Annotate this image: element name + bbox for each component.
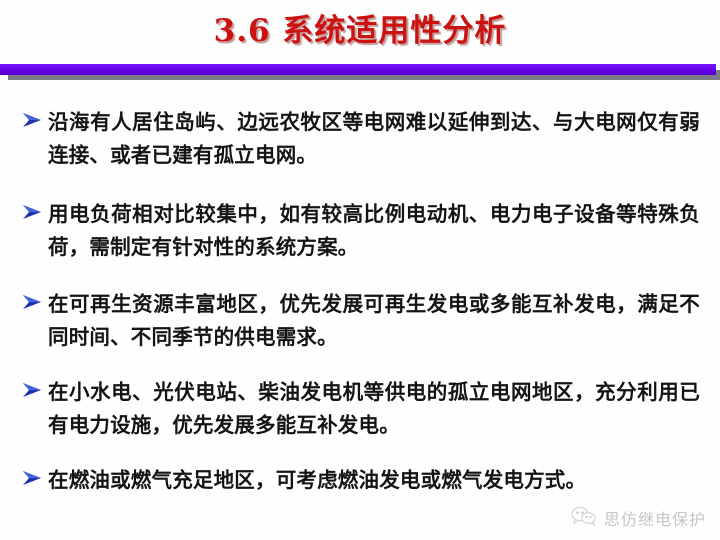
slide-body: 沿海有人居住岛屿、边远农牧区等电网难以延伸到达、与大电网仅有弱连接、或者已建有孤…: [0, 96, 720, 526]
arrow-bullet-icon: [22, 198, 48, 220]
presentation-slide: 3.6 系统适用性分析 沿海有人居住岛屿、边远农牧区等电网难以延伸到达、与大电网…: [0, 0, 720, 540]
page-title: 3.6 系统适用性分析: [214, 16, 507, 47]
bullet-item: 沿海有人居住岛屿、边远农牧区等电网难以延伸到达、与大电网仅有弱连接、或者已建有孤…: [22, 106, 700, 172]
bullet-item: 在小水电、光伏电站、柴油发电机等供电的孤立电网地区，充分利用已有电力设施，优先发…: [22, 376, 700, 442]
bullet-item: 用电负荷相对比较集中，如有较高比例电动机、电力电子设备等特殊负荷，需制定有针对性…: [22, 198, 700, 264]
title-divider: [0, 62, 720, 84]
arrow-bullet-icon: [22, 464, 48, 486]
arrow-bullet-icon: [22, 376, 48, 398]
bullet-item: 在可再生资源丰富地区，优先发展可再生发电或多能互补发电，满足不同时间、不同季节的…: [22, 288, 700, 354]
arrow-bullet-icon: [22, 106, 48, 128]
bullet-text: 在可再生资源丰富地区，优先发展可再生发电或多能互补发电，满足不同时间、不同季节的…: [48, 288, 700, 354]
slide-title-area: 3.6 系统适用性分析: [0, 0, 720, 62]
bullet-text: 沿海有人居住岛屿、边远农牧区等电网难以延伸到达、与大电网仅有弱连接、或者已建有孤…: [48, 106, 700, 172]
divider-bar: [0, 64, 716, 75]
bullet-item: 在燃油或燃气充足地区，可考虑燃油发电或燃气发电方式。: [22, 464, 700, 497]
bullet-text: 在燃油或燃气充足地区，可考虑燃油发电或燃气发电方式。: [48, 464, 700, 497]
bullet-text: 在小水电、光伏电站、柴油发电机等供电的孤立电网地区，充分利用已有电力设施，优先发…: [48, 376, 700, 442]
watermark-text: 思仿继电保护: [604, 506, 706, 530]
bullet-text: 用电负荷相对比较集中，如有较高比例电动机、电力电子设备等特殊负荷，需制定有针对性…: [48, 198, 700, 264]
watermark: 思仿继电保护: [571, 506, 706, 530]
arrow-bullet-icon: [22, 288, 48, 310]
wechat-icon: [571, 506, 597, 530]
